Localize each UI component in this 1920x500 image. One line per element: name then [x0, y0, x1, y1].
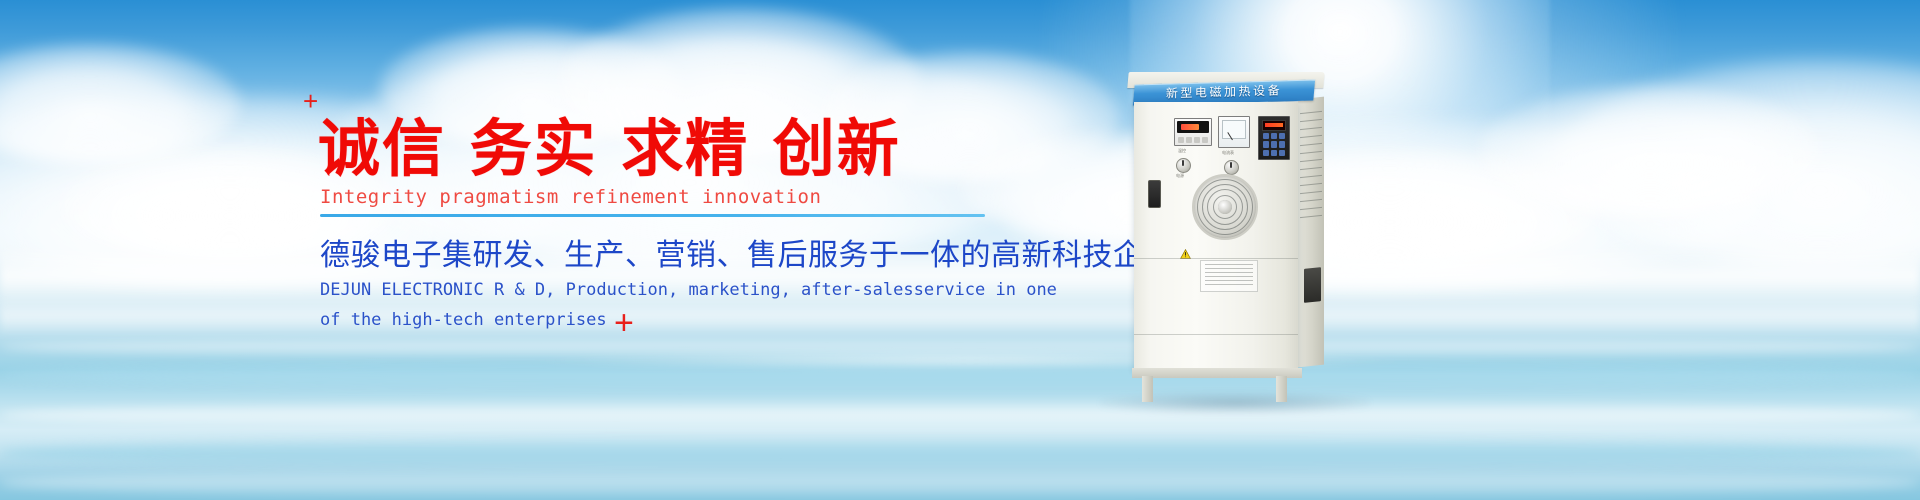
promo-banner: + + 诚信 务实 求精 创新 Integrity pragmatism ref…: [0, 0, 1920, 500]
water-band-4: [0, 436, 1920, 470]
knob-caption: 电源: [1176, 173, 1184, 179]
keypad-led-display: [1262, 120, 1286, 131]
controller-buttons: [1178, 137, 1208, 143]
control-keypad: [1258, 116, 1290, 160]
tagline-english: DEJUN ELECTRONIC R & D, Production, mark…: [320, 276, 1057, 336]
machine-panel-seam: [1134, 258, 1298, 259]
specification-plate: [1200, 260, 1258, 292]
water-band-3: [0, 400, 1920, 430]
tagline-english-line-2: of the high-tech enterprises: [320, 306, 1057, 336]
tagline-chinese: 德骏电子集研发、生产、营销、售后服务于一体的高新科技企业: [320, 238, 1174, 275]
fan-hub: [1218, 200, 1232, 214]
machine-panel-seam: [1134, 334, 1298, 335]
cloud-puff-6: [1480, 86, 1820, 216]
adjust-knob[interactable]: [1224, 160, 1239, 175]
temperature-controller-display: [1174, 118, 1212, 146]
power-selector-knob[interactable]: [1176, 158, 1191, 173]
plus-ornament-top-icon: +: [303, 88, 318, 114]
divider-line: [320, 214, 985, 217]
controller-caption: 温控: [1178, 148, 1186, 154]
controller-screen: [1177, 121, 1209, 133]
warning-triangle-icon: [1180, 246, 1191, 256]
headline-chinese: 诚信 务实 求精 创新: [318, 118, 901, 180]
gauge-caption: 电流表: [1222, 150, 1234, 156]
machine-leg-right: [1276, 376, 1287, 402]
gauge-face: [1222, 120, 1246, 139]
tagline-english-line-1: DEJUN ELECTRONIC R & D, Production, mark…: [320, 276, 1057, 306]
cooling-fan-grille: [1192, 174, 1258, 240]
keypad-buttons: [1263, 133, 1285, 156]
rocker-switch[interactable]: [1148, 180, 1161, 208]
machine-leg-left: [1142, 376, 1153, 402]
subtitle-english: Integrity pragmatism refinement innovati…: [320, 186, 821, 208]
water-band-5: [0, 466, 1920, 500]
product-image-heating-equipment: 新型电磁加热设备 温控 电流表 电源: [1118, 72, 1348, 402]
analog-ammeter-gauge: [1218, 116, 1250, 148]
machine-side-dark-vent: [1304, 267, 1321, 303]
